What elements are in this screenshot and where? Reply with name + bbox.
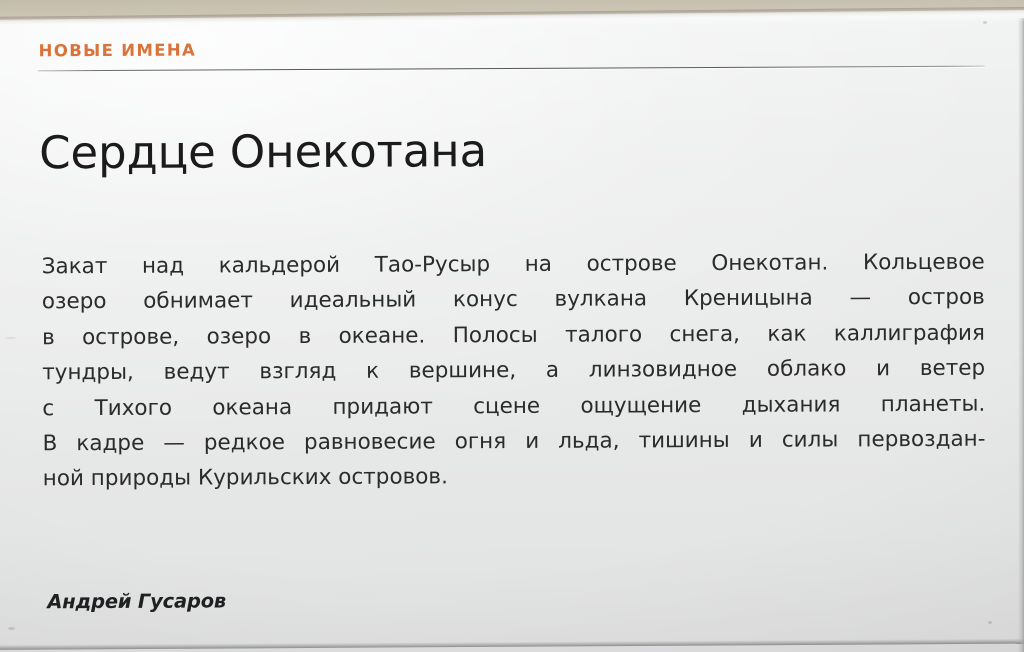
placard-content: НОВЫЕ ИМЕНА Сердце Онекотана Закатнадкал… <box>0 0 1024 652</box>
body-line: Вкадре—редкоеравновесиеогняильда,тишиныи… <box>42 422 985 462</box>
author-signature: Андрей Гусаров <box>47 589 226 613</box>
body-line: тундры,ведутвзглядквершине,алинзовидноео… <box>42 351 985 391</box>
museum-placard-photo: НОВЫЕ ИМЕНА Сердце Онекотана Закатнадкал… <box>0 0 1024 652</box>
body-line: ЗакатнадкальдеройТао-РусырнаостровеОнеко… <box>42 245 985 285</box>
body-line: вострове,озеровокеане.Полосыталогоснега,… <box>42 316 985 356</box>
body-line: ной природы Курильских островов. <box>43 457 986 497</box>
section-kicker: НОВЫЕ ИМЕНА <box>39 41 197 61</box>
body-line: озерообнимаетидеальныйконусвулканаКрениц… <box>42 280 985 320</box>
body-line: сТихогоокеанапридаютсценеощущениедыхания… <box>42 386 985 426</box>
page-title: Сердце Онекотана <box>39 127 487 176</box>
header-divider-rule <box>38 66 985 72</box>
description-text: ЗакатнадкальдеройТао-РусырнаостровеОнеко… <box>42 245 986 497</box>
